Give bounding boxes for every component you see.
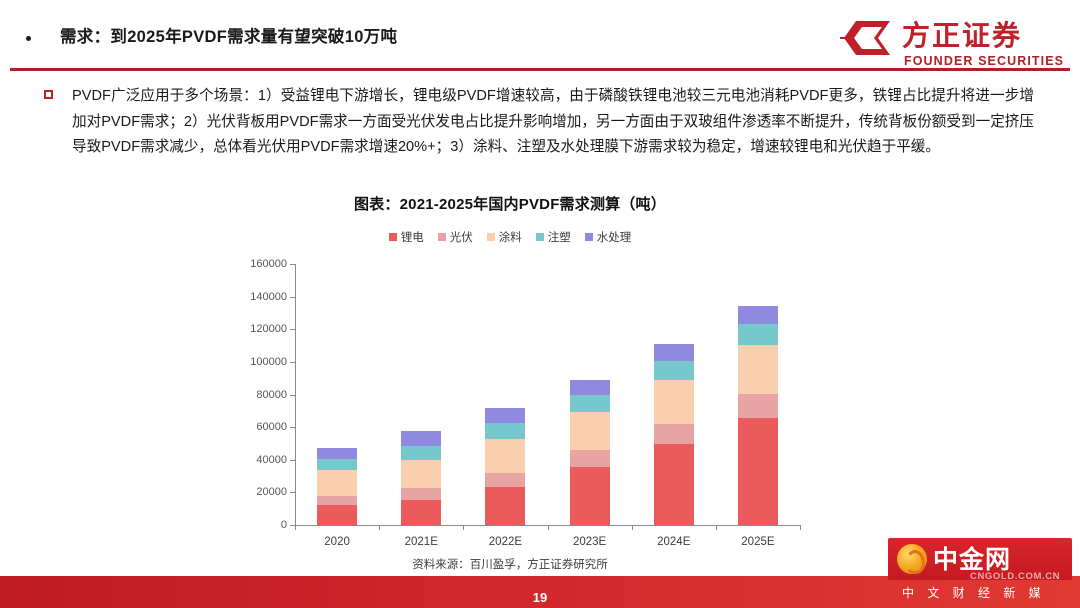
legend-item-3[interactable]: 注塑 bbox=[536, 229, 571, 245]
bar-segment-锂电 bbox=[401, 500, 441, 525]
bar-segment-光伏 bbox=[485, 473, 525, 487]
legend-label: 注塑 bbox=[548, 229, 571, 245]
legend-item-4[interactable]: 水处理 bbox=[585, 229, 632, 245]
bar-segment-注塑 bbox=[485, 423, 525, 438]
bar-segment-水处理 bbox=[317, 448, 357, 459]
paragraph-bullet-icon bbox=[44, 90, 53, 99]
x-axis-tick-mark bbox=[800, 525, 801, 530]
chart-legend: 锂电光伏涂料注塑水处理 bbox=[200, 229, 820, 245]
bar-segment-水处理 bbox=[485, 408, 525, 423]
bar-segment-光伏 bbox=[401, 488, 441, 499]
bar-segment-锂电 bbox=[317, 505, 357, 525]
y-axis-tick-mark bbox=[290, 395, 295, 396]
chart-plot-area: 1600001400001200001000008000060000400002… bbox=[200, 254, 820, 544]
founder-securities-mark-icon bbox=[840, 18, 894, 58]
bar-2021E[interactable] bbox=[401, 431, 441, 525]
y-axis-tick-label: 80000 bbox=[227, 389, 287, 401]
chart-container: 图表：2021-2025年国内PVDF需求测算（吨） 锂电光伏涂料注塑水处理 1… bbox=[200, 193, 820, 573]
legend-swatch-icon bbox=[585, 233, 593, 241]
bar-segment-注塑 bbox=[654, 361, 694, 380]
y-axis-tick-label: 120000 bbox=[227, 323, 287, 335]
chart-title: 图表：2021-2025年国内PVDF需求测算（吨） bbox=[200, 193, 820, 214]
bar-segment-涂料 bbox=[317, 470, 357, 495]
legend-label: 锂电 bbox=[401, 229, 424, 245]
y-axis-tick-label: 20000 bbox=[227, 486, 287, 498]
bar-segment-注塑 bbox=[738, 324, 778, 344]
page-title: 需求：到2025年PVDF需求量有望突破10万吨 bbox=[60, 23, 397, 47]
x-axis-tick-label: 2021E bbox=[405, 536, 438, 548]
y-axis-line bbox=[295, 264, 296, 525]
legend-swatch-icon bbox=[536, 233, 544, 241]
bar-segment-涂料 bbox=[485, 439, 525, 473]
bar-segment-光伏 bbox=[738, 394, 778, 418]
x-axis-tick-label: 2024E bbox=[657, 536, 690, 548]
bar-segment-涂料 bbox=[401, 460, 441, 489]
legend-label: 水处理 bbox=[597, 229, 632, 245]
y-axis-tick-mark bbox=[290, 362, 295, 363]
bar-segment-水处理 bbox=[654, 344, 694, 361]
bar-segment-涂料 bbox=[738, 345, 778, 394]
x-axis-tick-mark bbox=[379, 525, 380, 530]
x-axis-tick-label: 2023E bbox=[573, 536, 606, 548]
bar-segment-光伏 bbox=[317, 496, 357, 506]
y-axis-tick-mark bbox=[290, 492, 295, 493]
bar-segment-涂料 bbox=[654, 380, 694, 424]
watermark-cngold: 中金网 CNGOLD.COM.CN 中 文 财 经 新 媒 bbox=[888, 538, 1072, 608]
bar-segment-涂料 bbox=[570, 412, 610, 450]
page-number: 19 bbox=[533, 590, 547, 605]
legend-item-1[interactable]: 光伏 bbox=[438, 229, 473, 245]
bar-segment-锂电 bbox=[738, 418, 778, 525]
legend-swatch-icon bbox=[438, 233, 446, 241]
bar-segment-锂电 bbox=[485, 487, 525, 525]
y-axis-tick-mark bbox=[290, 427, 295, 428]
bar-segment-注塑 bbox=[570, 395, 610, 412]
watermark-swirl-icon bbox=[905, 550, 925, 574]
y-axis-tick-label: 140000 bbox=[227, 291, 287, 303]
bar-segment-注塑 bbox=[401, 446, 441, 460]
x-axis-tick-mark bbox=[295, 525, 296, 530]
y-axis-tick-label: 0 bbox=[227, 519, 287, 531]
y-axis-tick-mark bbox=[290, 460, 295, 461]
legend-label: 涂料 bbox=[499, 229, 522, 245]
bar-segment-水处理 bbox=[570, 380, 610, 395]
legend-label: 光伏 bbox=[450, 229, 473, 245]
y-axis-tick-mark bbox=[290, 329, 295, 330]
y-axis-tick-label: 60000 bbox=[227, 421, 287, 433]
bar-segment-水处理 bbox=[401, 431, 441, 446]
bar-segment-水处理 bbox=[738, 306, 778, 324]
brand-name-en: FOUNDER SECURITIES bbox=[904, 54, 1064, 68]
x-axis-tick-mark bbox=[632, 525, 633, 530]
x-axis-tick-mark bbox=[716, 525, 717, 530]
legend-swatch-icon bbox=[487, 233, 495, 241]
bar-2020[interactable] bbox=[317, 448, 357, 525]
x-axis-tick-mark bbox=[463, 525, 464, 530]
bar-segment-光伏 bbox=[654, 424, 694, 444]
x-axis-tick-label: 2025E bbox=[741, 536, 774, 548]
bar-segment-锂电 bbox=[570, 467, 610, 525]
brand-name-cn: 方正证券 bbox=[902, 14, 1022, 54]
bar-2025E[interactable] bbox=[738, 306, 778, 525]
bar-segment-锂电 bbox=[654, 444, 694, 525]
watermark-url: CNGOLD.COM.CN bbox=[970, 571, 1060, 582]
bar-2024E[interactable] bbox=[654, 344, 694, 525]
y-axis-tick-mark bbox=[290, 264, 295, 265]
x-axis-tick-label: 2022E bbox=[489, 536, 522, 548]
legend-swatch-icon bbox=[389, 233, 397, 241]
legend-item-2[interactable]: 涂料 bbox=[487, 229, 522, 245]
chart-source-note: 资料来源：百川盈孚，方正证券研究所 bbox=[200, 556, 820, 572]
x-axis-tick-label: 2020 bbox=[324, 536, 350, 548]
legend-item-0[interactable]: 锂电 bbox=[389, 229, 424, 245]
bar-2023E[interactable] bbox=[570, 380, 610, 525]
bar-segment-光伏 bbox=[570, 450, 610, 467]
watermark-tagline: 中 文 财 经 新 媒 bbox=[902, 584, 1046, 601]
body-paragraph-block: PVDF广泛应用于多个场景：1）受益锂电下游增长，锂电级PVDF增速较高，由于磷… bbox=[44, 84, 1034, 161]
y-axis-tick-mark bbox=[290, 297, 295, 298]
y-axis-tick-label: 100000 bbox=[227, 356, 287, 368]
bar-2022E[interactable] bbox=[485, 408, 525, 525]
x-axis-tick-mark bbox=[548, 525, 549, 530]
y-axis-tick-label: 40000 bbox=[227, 454, 287, 466]
bar-segment-注塑 bbox=[317, 459, 357, 470]
brand-logo: 方正证券 FOUNDER SECURITIES bbox=[840, 16, 1066, 72]
y-axis-tick-label: 160000 bbox=[227, 258, 287, 270]
header-bullet-icon bbox=[26, 36, 31, 41]
body-paragraph-text: PVDF广泛应用于多个场景：1）受益锂电下游增长，锂电级PVDF增速较高，由于磷… bbox=[72, 84, 1034, 161]
